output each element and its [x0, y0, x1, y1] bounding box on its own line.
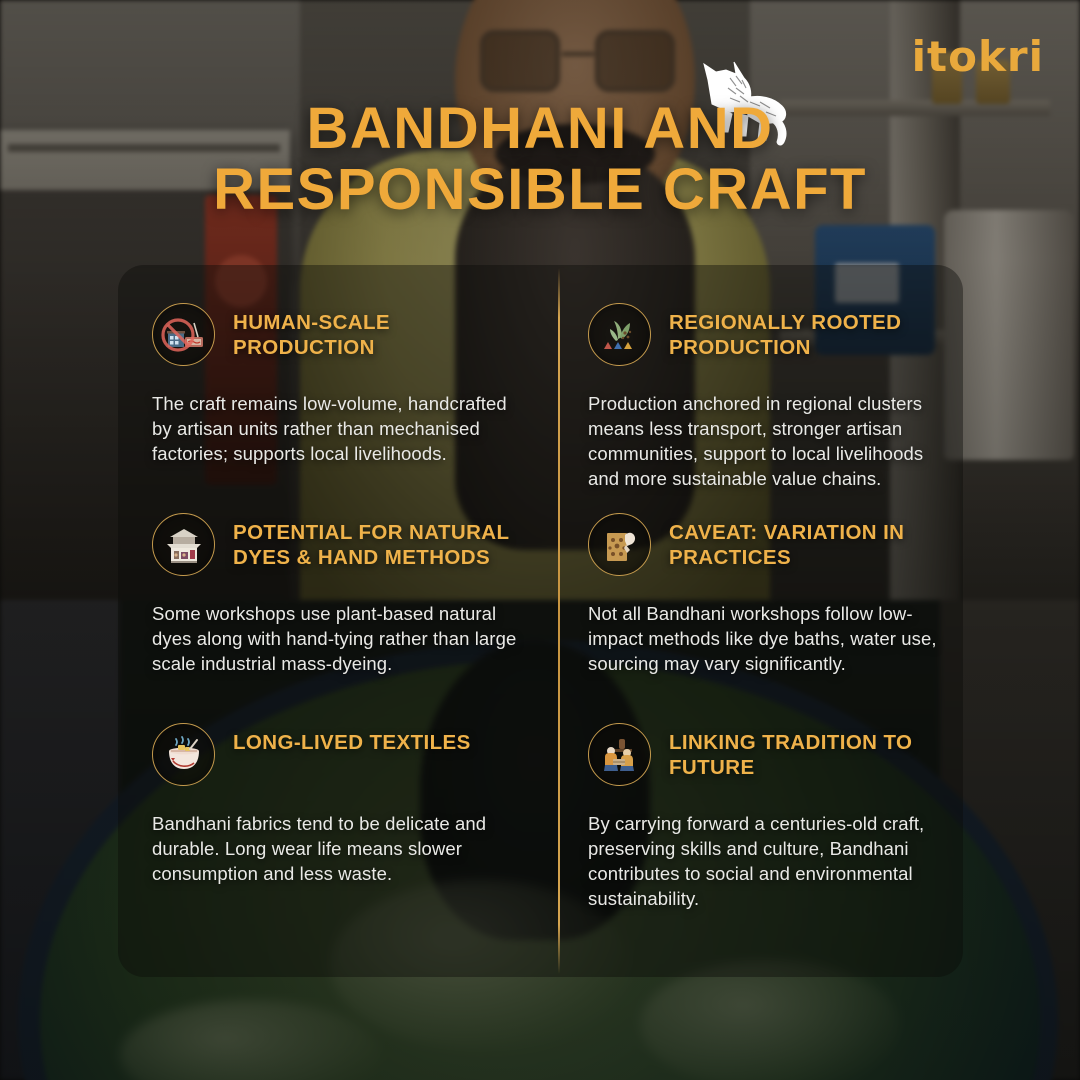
- card-body: Bandhani fabrics tend to be delicate and…: [152, 812, 524, 887]
- card-title: REGIONALLY ROOTED PRODUCTION: [669, 303, 943, 360]
- card-body: Some workshops use plant-based natural d…: [152, 602, 524, 677]
- card-title: LONG-LIVED TEXTILES: [233, 723, 471, 755]
- card-header: REGIONALLY ROOTED PRODUCTION: [588, 303, 943, 366]
- card-header: LINKING TRADITION TO FUTURE: [588, 723, 943, 786]
- card-body: By carrying forward a centuries-old craf…: [588, 812, 943, 912]
- cards-grid: HUMAN-SCALE PRODUCTION The craft remains…: [118, 265, 963, 977]
- card-header: POTENTIAL FOR NATURAL DYES & HAND METHOD…: [152, 513, 524, 576]
- card-header: CAVEAT: VARIATION IN PRACTICES: [588, 513, 943, 576]
- title-line-1: BANDHANI AND: [150, 98, 930, 159]
- plant-dye-pigments-icon: [588, 303, 651, 366]
- card-header: HUMAN-SCALE PRODUCTION: [152, 303, 524, 366]
- card-header: LONG-LIVED TEXTILES: [152, 723, 524, 786]
- card-body: The craft remains low-volume, handcrafte…: [152, 392, 524, 467]
- card-natural-dyes-hand-methods: POTENTIAL FOR NATURAL DYES & HAND METHOD…: [118, 475, 558, 685]
- card-body: Not all Bandhani workshops follow low-im…: [588, 602, 943, 677]
- card-title: LINKING TRADITION TO FUTURE: [669, 723, 943, 780]
- infographic-canvas: itokri BANDHANI AND RESPONSIBLE CRAFT: [0, 0, 1080, 1080]
- title-line-2: RESPONSIBLE CRAFT: [150, 159, 930, 220]
- card-caveat-variation-in-practices: CAVEAT: VARIATION IN PRACTICES Not all B…: [558, 475, 963, 685]
- steaming-dye-pot-icon: [152, 723, 215, 786]
- card-human-scale-production: HUMAN-SCALE PRODUCTION The craft remains…: [118, 265, 558, 475]
- hand-holding-patterned-fabric-icon: [588, 513, 651, 576]
- two-artisans-weaving-icon: [588, 723, 651, 786]
- card-linking-tradition-to-future: LINKING TRADITION TO FUTURE By carrying …: [558, 685, 963, 977]
- itokri-logo[interactable]: itokri: [912, 36, 1044, 78]
- card-title: CAVEAT: VARIATION IN PRACTICES: [669, 513, 943, 570]
- card-long-lived-textiles: LONG-LIVED TEXTILES Bandhani fabrics ten…: [118, 685, 558, 977]
- no-factory-icon: [152, 303, 215, 366]
- card-title: HUMAN-SCALE PRODUCTION: [233, 303, 524, 360]
- craft-workshop-building-icon: [152, 513, 215, 576]
- page-title: BANDHANI AND RESPONSIBLE CRAFT: [0, 98, 1080, 221]
- card-title: POTENTIAL FOR NATURAL DYES & HAND METHOD…: [233, 513, 524, 570]
- card-regionally-rooted-production: REGIONALLY ROOTED PRODUCTION Production …: [558, 265, 963, 475]
